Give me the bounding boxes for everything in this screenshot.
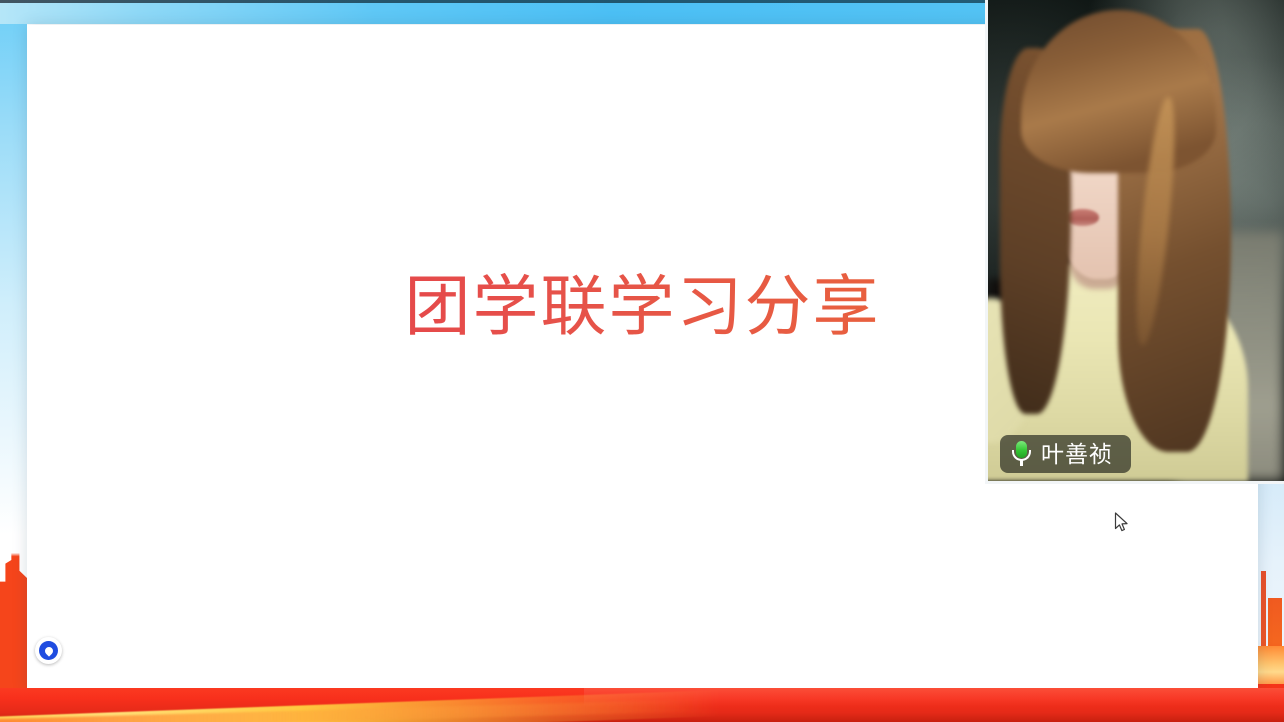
participant-mouth — [1066, 209, 1099, 225]
slide-top-band — [0, 0, 987, 24]
mic-on-icon[interactable] — [1010, 440, 1032, 468]
webcam-video — [988, 0, 1284, 481]
slide-left-decoration — [0, 0, 27, 722]
mouse-cursor — [1114, 512, 1130, 534]
wps-logo-icon — [35, 637, 62, 664]
mic-stem — [1020, 460, 1023, 466]
participant-name-badge: 叶善祯 — [1000, 435, 1131, 473]
slide-bottom-band — [0, 688, 1284, 722]
screen: 团学联学习分享 — [0, 0, 1284, 722]
wps-logo-ring — [39, 641, 58, 660]
participant-name-label: 叶善祯 — [1041, 443, 1113, 466]
slide-bottom-sheen — [584, 688, 1284, 722]
wps-logo-inner — [43, 645, 54, 656]
slide-top-band-edge — [0, 0, 987, 3]
webcam-tile[interactable]: 叶善祯 — [985, 0, 1284, 484]
slide-right-orange-band — [1257, 646, 1284, 686]
